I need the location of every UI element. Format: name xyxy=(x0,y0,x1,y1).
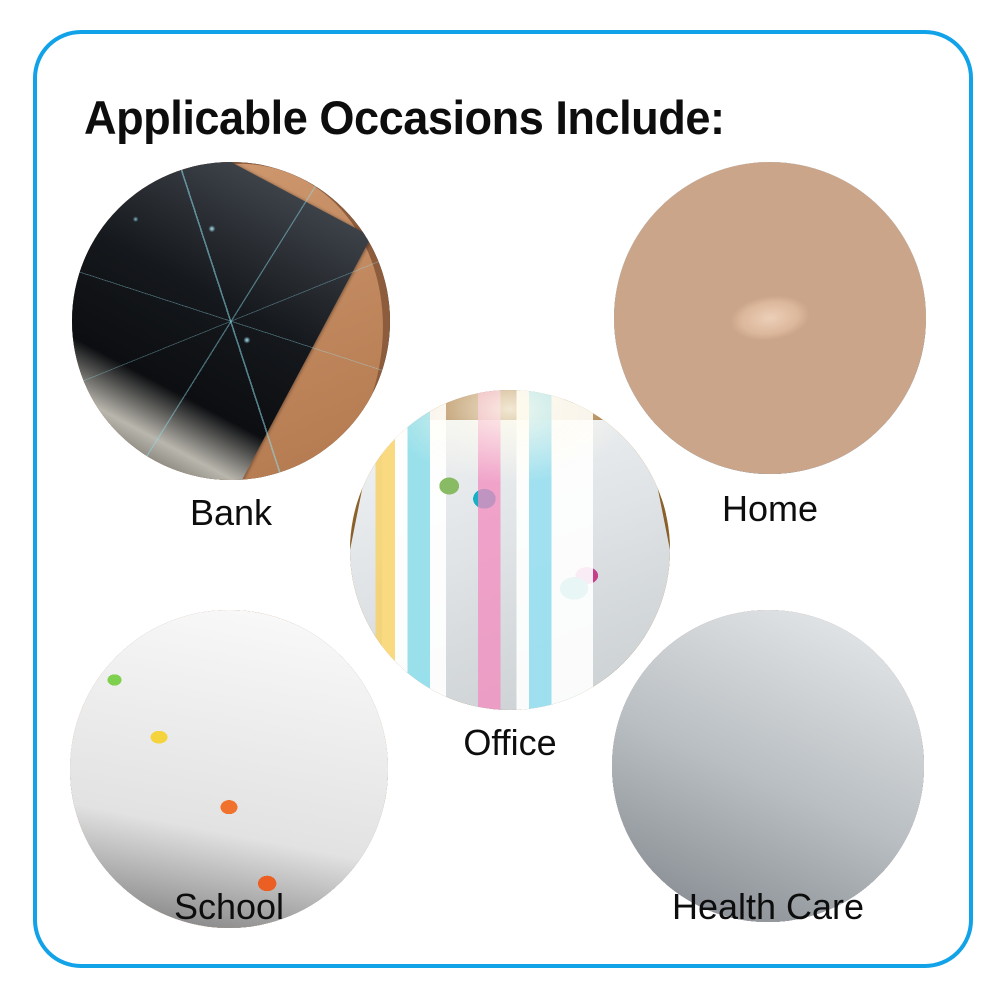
health-pen xyxy=(612,610,924,922)
health-care-photo-circle xyxy=(612,610,924,922)
bank-network-overlay xyxy=(72,162,390,480)
school-photo-circle xyxy=(70,610,388,928)
occasion-label-health-care: Health Care xyxy=(612,886,924,928)
bank-photo-circle xyxy=(72,162,390,480)
infographic-page: Applicable Occasions Include: Bank xyxy=(0,0,1000,1000)
occasion-school: School xyxy=(70,610,388,990)
occasion-bank: Bank xyxy=(72,162,390,542)
occasion-health-care: Health Care xyxy=(612,610,924,990)
occasion-label-school: School xyxy=(70,886,388,928)
page-title: Applicable Occasions Include: xyxy=(84,92,725,144)
school-foam-letters xyxy=(70,610,388,928)
occasion-label-bank: Bank xyxy=(72,492,390,534)
